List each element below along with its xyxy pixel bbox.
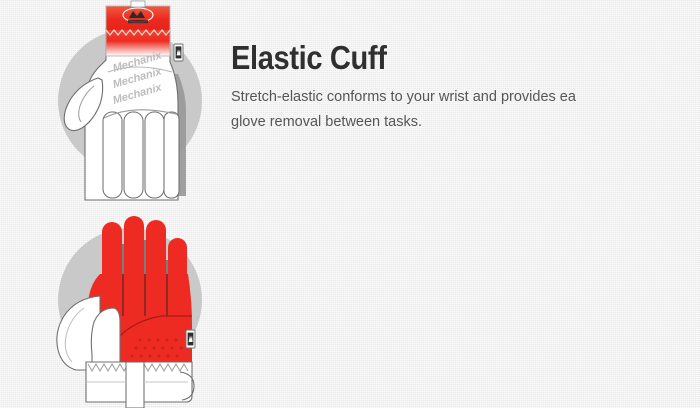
glove-graphic: Mechanix Mechanix Mechanix bbox=[64, 1, 186, 200]
glove-illustration-touchscreen bbox=[28, 204, 228, 408]
body-line: Stretch-elastic conforms to your wrist a… bbox=[231, 85, 625, 110]
feature-title-elastic-cuff: Elastic Cuff bbox=[231, 40, 578, 76]
glove-graphic bbox=[57, 216, 195, 408]
glove-illustration-elastic-cuff: Mechanix Mechanix Mechanix bbox=[28, 0, 228, 204]
feature-body-elastic-cuff: Stretch-elastic conforms to your wrist a… bbox=[231, 85, 625, 135]
glove-cuff bbox=[106, 1, 170, 56]
cuff-strap bbox=[126, 362, 144, 408]
glove-side-tag bbox=[174, 44, 183, 61]
feature-block-touchscreen: Touchscreen Capable High-dexterity 0.6mm… bbox=[0, 204, 700, 408]
glove-fingers bbox=[103, 112, 179, 198]
body-line: glove removal between tasks. bbox=[231, 110, 625, 135]
feature-block-elastic-cuff: Mechanix Mechanix Mechanix Elastic Cuff … bbox=[0, 0, 700, 204]
feature-text-elastic-cuff: Elastic Cuff Stretch-elastic conforms to… bbox=[231, 40, 625, 150]
glove-side-tag bbox=[186, 330, 195, 348]
page-root: Mechanix Mechanix Mechanix Elastic Cuff … bbox=[0, 0, 700, 408]
glove-cuff bbox=[86, 362, 194, 408]
